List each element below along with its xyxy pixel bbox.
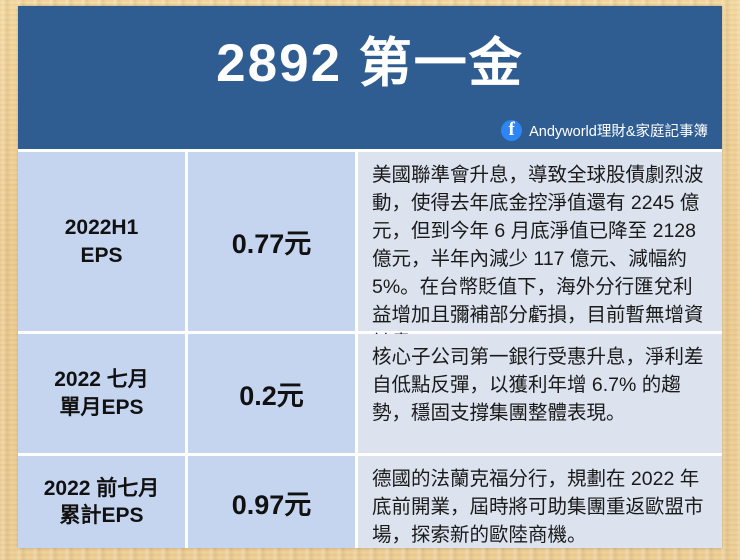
row-description-cumulative-eps: 德國的法蘭克福分行，規劃在 2022 年底前開業，屆時將可助集團重返歐盟市場，探… [358,456,722,548]
table-row: 2022H1 EPS 0.77元 美國聯準會升息，導致全球股債劇烈波動，使得去年… [18,152,722,334]
row-description-july-monthly-eps: 核心子公司第一銀行受惠升息，淨利差自低點反彈，以獲利年增 6.7% 的趨勢，穩固… [358,334,722,453]
facebook-attribution-badge: Andyworld理財&家庭記事簿 [501,120,708,141]
table-row: 2022 前七月 累計EPS 0.97元 德國的法蘭克福分行，規劃在 2022 … [18,456,722,548]
slide-header: 2892 第一金 Andyworld理財&家庭記事簿 [18,6,722,152]
row-value-cumulative-eps: 0.97元 [188,456,358,548]
row-label-2022h1-eps: 2022H1 EPS [18,152,188,331]
eps-summary-table: 2022H1 EPS 0.77元 美國聯準會升息，導致全球股債劇烈波動，使得去年… [18,152,722,548]
facebook-icon [501,120,522,141]
row-value-july-monthly-eps: 0.2元 [188,334,358,453]
row-label-cumulative-eps: 2022 前七月 累計EPS [18,456,188,548]
slide-card: 2892 第一金 Andyworld理財&家庭記事簿 2022H1 EPS 0.… [18,6,722,548]
row-label-july-monthly-eps: 2022 七月 單月EPS [18,334,188,453]
row-description-2022h1-eps: 美國聯準會升息，導致全球股債劇烈波動，使得去年底金控淨值還有 2245 億元，但… [358,152,722,331]
page-title: 2892 第一金 [18,36,722,92]
table-row: 2022 七月 單月EPS 0.2元 核心子公司第一銀行受惠升息，淨利差自低點反… [18,334,722,456]
row-value-2022h1-eps: 0.77元 [188,152,358,331]
facebook-page-name: Andyworld理財&家庭記事簿 [529,120,708,141]
